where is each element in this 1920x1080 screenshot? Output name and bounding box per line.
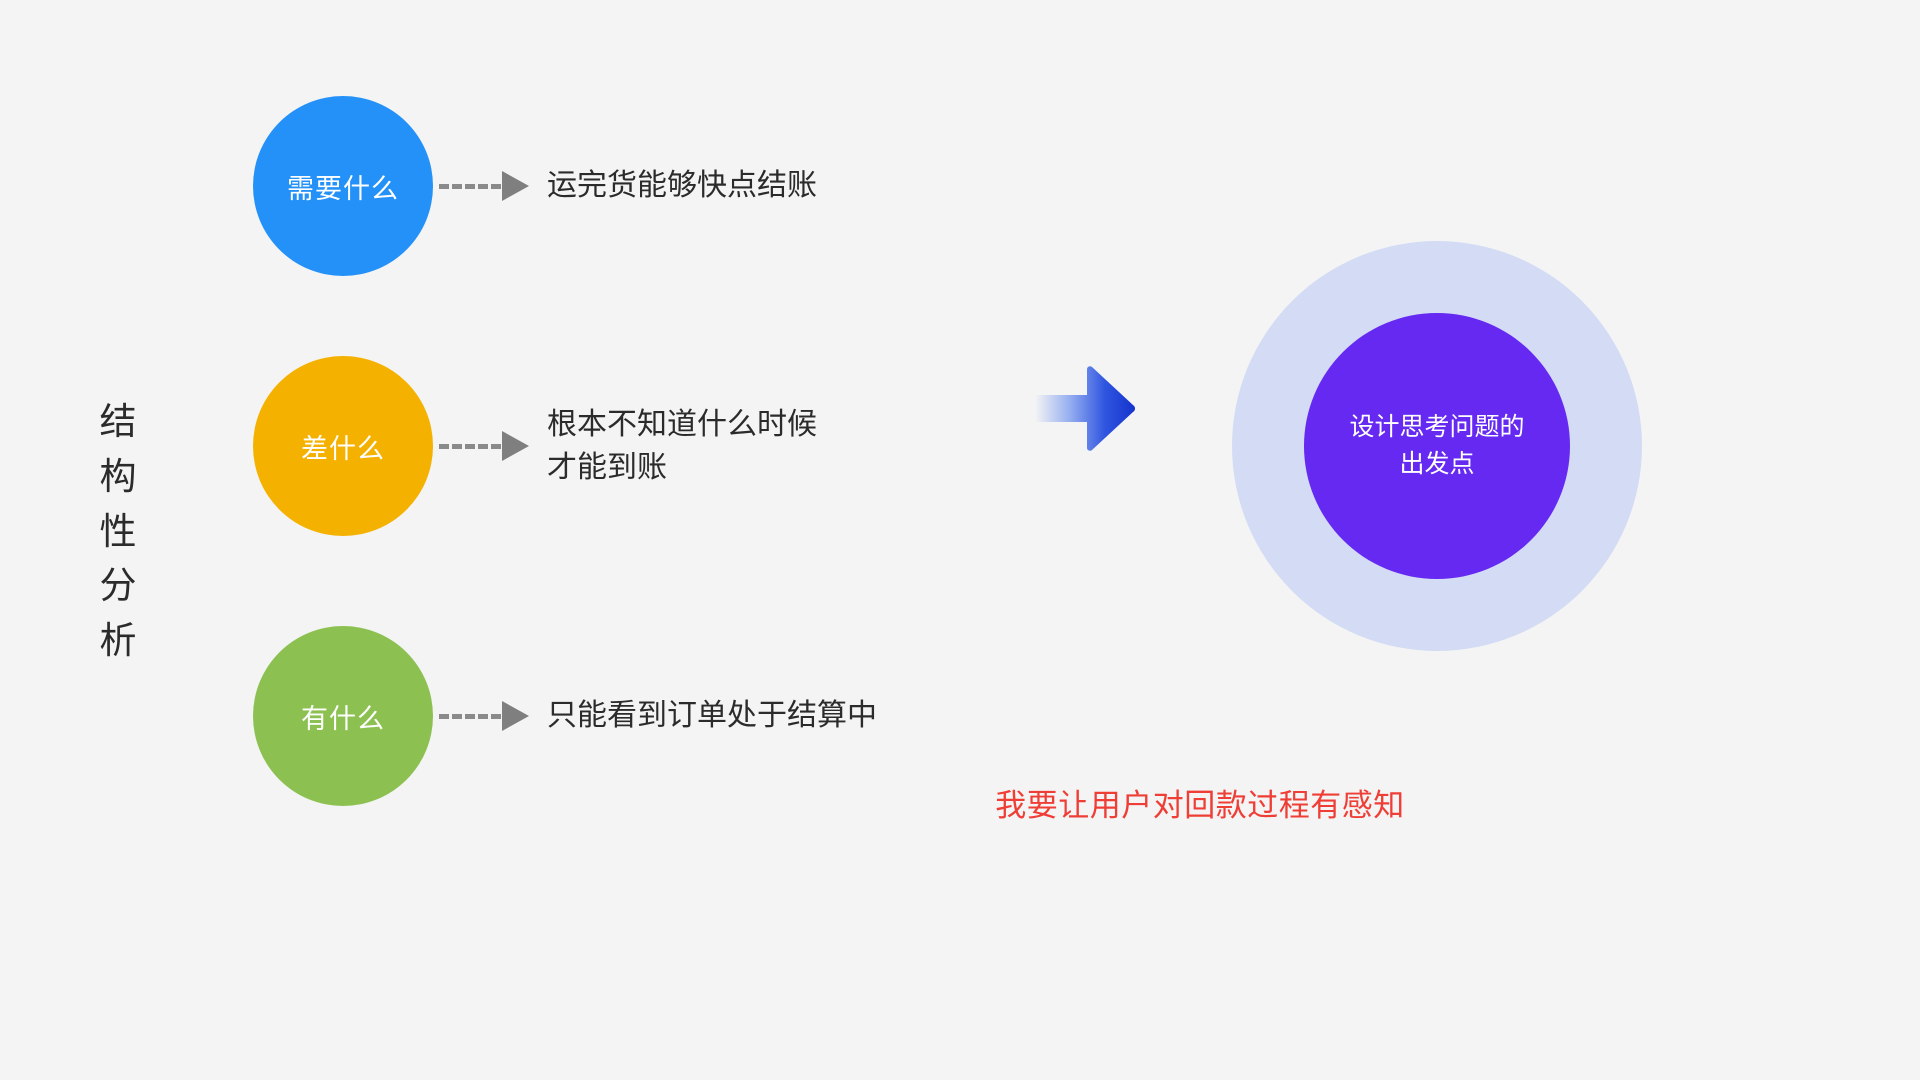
connector-arrow-icon-gap — [439, 431, 529, 461]
bubble-gap-label: 差什么 — [301, 427, 385, 466]
dashed-line-gap — [439, 444, 501, 449]
dashed-line-have — [439, 714, 501, 719]
conclusion-text: 我要让用户对回款过程有感知 — [995, 780, 1405, 825]
bubble-need[interactable]: 需要什么 — [253, 96, 433, 276]
analysis-row-gap: 差什么 根本不知道什么时候 才能到账 — [253, 356, 817, 536]
section-title-char-3: 性 — [100, 505, 137, 560]
section-title-char-2: 构 — [100, 450, 137, 505]
connector-arrow-icon-have — [439, 701, 529, 731]
result-core-circle[interactable]: 设计思考问题的 出发点 — [1304, 313, 1570, 579]
arrow-head-icon-have — [502, 701, 529, 731]
bubble-have-label: 有什么 — [301, 697, 385, 736]
section-title-vertical: 结 构 性 分 析 — [88, 395, 148, 669]
arrow-head-icon-need — [502, 171, 529, 201]
connector-arrow-icon-need — [439, 171, 529, 201]
transition-arrow-icon — [1035, 366, 1135, 451]
bubble-have[interactable]: 有什么 — [253, 626, 433, 806]
analysis-row-gap-text: 根本不知道什么时候 才能到账 — [547, 403, 817, 490]
analysis-row-need: 需要什么 运完货能够快点结账 — [253, 96, 817, 276]
arrow-head-icon-gap — [502, 431, 529, 461]
analysis-row-need-text: 运完货能够快点结账 — [547, 164, 817, 208]
section-title-char-4: 分 — [100, 559, 137, 614]
analysis-row-have: 有什么 只能看到订单处于结算中 — [253, 626, 877, 806]
section-title-char-5: 析 — [100, 614, 137, 669]
bubble-gap[interactable]: 差什么 — [253, 356, 433, 536]
diagram-canvas: 结 构 性 分 析 需要什么 运完货能够快点结账 差什么 根本不知道什么时候 才… — [0, 0, 1920, 1080]
section-title-char-1: 结 — [100, 395, 137, 450]
dashed-line-need — [439, 184, 501, 189]
bubble-need-label: 需要什么 — [287, 167, 399, 206]
result-core-text: 设计思考问题的 出发点 — [1349, 409, 1524, 484]
analysis-row-have-text: 只能看到订单处于结算中 — [547, 694, 877, 738]
